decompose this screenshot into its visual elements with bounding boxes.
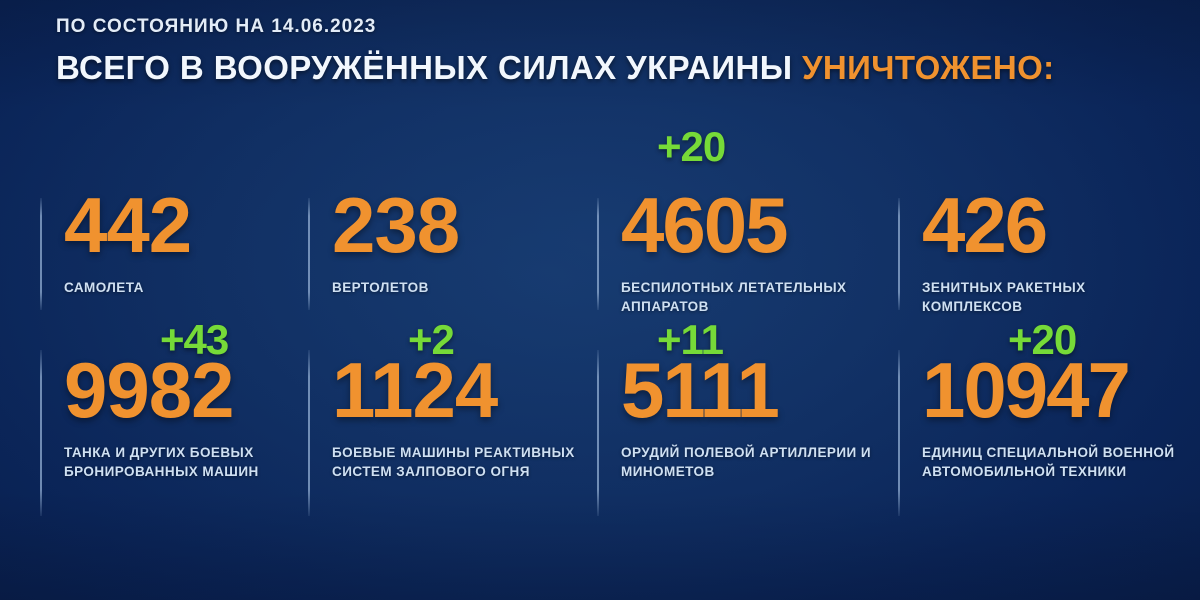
stat-value: 442 <box>64 192 191 259</box>
cell-divider <box>40 198 42 310</box>
stats-grid: 442 Самолета 238 Вертолетов +20 4605 Бес… <box>0 130 1200 565</box>
stat-label: Самолета <box>64 278 314 297</box>
stat-label: Беспилотных летательных аппаратов <box>621 278 871 316</box>
stat-value: 426 <box>922 192 1046 259</box>
stat-label: Танка и других боевых бронированных маши… <box>64 443 329 481</box>
stat-cell-military-vehicles: +20 10947 Единиц специальной военной авт… <box>898 335 1200 565</box>
stats-row: 442 Самолета 238 Вертолетов +20 4605 Бес… <box>0 130 1200 335</box>
stat-cell-aircraft: 442 Самолета <box>40 130 308 335</box>
cell-divider <box>308 350 310 516</box>
stat-cell-tanks: +43 9982 Танка и других боевых бронирова… <box>40 335 308 565</box>
stat-value: 4605 <box>621 192 787 259</box>
stat-label: Вертолетов <box>332 278 582 297</box>
cell-divider <box>40 350 42 516</box>
infographic-poster: ПО СОСТОЯНИЮ НА 14.06.2023 ВСЕГО В ВООРУ… <box>0 0 1200 600</box>
page-title: ВСЕГО В ВООРУЖЁННЫХ СИЛАХ УКРАИНЫ УНИЧТО… <box>56 49 1055 87</box>
cell-divider <box>898 350 900 516</box>
stat-label: Единиц специальной военной автомобильной… <box>922 443 1187 481</box>
stat-cell-uav: +20 4605 Беспилотных летательных аппарат… <box>597 130 898 335</box>
stat-label: Зенитных ракетных комплексов <box>922 278 1172 316</box>
stat-value: 5111 <box>621 357 778 424</box>
stat-value: 10947 <box>922 357 1129 424</box>
stat-cell-helicopters: 238 Вертолетов <box>308 130 597 335</box>
stat-cell-mlrs: +2 1124 Боевые машины реактивных систем … <box>308 335 597 565</box>
stat-cell-artillery: +11 5111 Орудий полевой артиллерии и мин… <box>597 335 898 565</box>
stat-label: Боевые машины реактивных систем залповог… <box>332 443 597 481</box>
cell-divider <box>597 350 599 516</box>
page-title-main: ВСЕГО В ВООРУЖЁННЫХ СИЛАХ УКРАИНЫ <box>56 49 792 86</box>
page-title-accent: УНИЧТОЖЕНО: <box>802 49 1055 86</box>
stat-value: 9982 <box>64 357 234 424</box>
stats-row: +43 9982 Танка и других боевых бронирова… <box>0 335 1200 565</box>
stat-value: 238 <box>332 192 459 259</box>
cell-divider <box>898 198 900 310</box>
delta-badge: +20 <box>657 126 725 168</box>
cell-divider <box>597 198 599 310</box>
stat-value: 1124 <box>332 357 497 424</box>
cell-divider <box>308 198 310 310</box>
stat-cell-sam-systems: 426 Зенитных ракетных комплексов <box>898 130 1200 335</box>
as-of-date: ПО СОСТОЯНИЮ НА 14.06.2023 <box>56 16 1055 38</box>
poster-header: ПО СОСТОЯНИЮ НА 14.06.2023 ВСЕГО В ВООРУ… <box>56 16 1055 87</box>
stat-label: Орудий полевой артиллерии и минометов <box>621 443 886 481</box>
